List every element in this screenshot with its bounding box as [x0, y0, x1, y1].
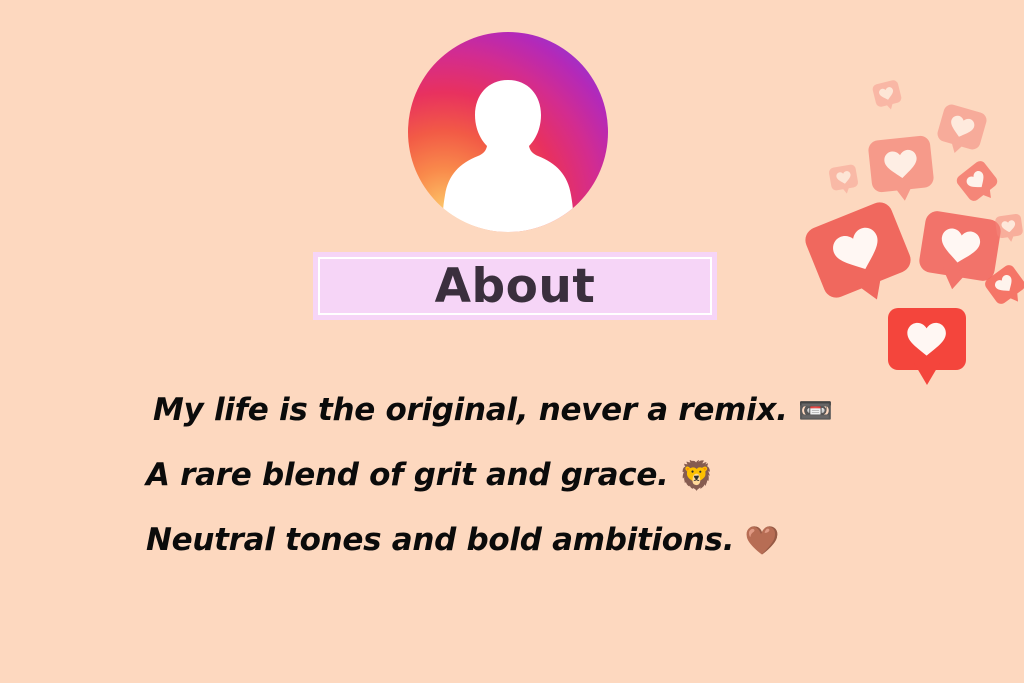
- like-hearts-decoration: [800, 70, 1024, 400]
- heart-bubble-tiny-top: [872, 79, 903, 108]
- person-silhouette-icon: [440, 72, 576, 232]
- bubble-tail: [854, 272, 891, 305]
- bubble-tail: [892, 182, 916, 202]
- bubble-tail: [840, 184, 851, 195]
- bubble-tail: [884, 100, 896, 111]
- about-title-box: About: [313, 252, 717, 320]
- heart-bubble-upper-right: [936, 103, 989, 152]
- bubble-tail: [914, 363, 940, 385]
- bio-line-1: My life is the original, never a remix. …: [146, 378, 906, 443]
- heart-bubble-main: [888, 308, 966, 370]
- heart-bubble-tiny-right: [995, 213, 1024, 238]
- bio-text-block: My life is the original, never a remix. …: [146, 378, 906, 573]
- bubble-tail: [1005, 232, 1016, 242]
- bio-line-2: A rare blend of grit and grace. 🦁: [146, 443, 906, 508]
- heart-bubble-large-left: [801, 198, 914, 301]
- bio-line-2-text: A rare blend of grit and grace.: [146, 457, 679, 493]
- bubble-tail: [939, 268, 968, 292]
- bio-line-3: Neutral tones and bold ambitions. 🤎: [146, 508, 906, 573]
- brown-heart-emoji: 🤎: [745, 524, 780, 557]
- bubble-tail: [947, 138, 966, 155]
- bio-line-3-text: Neutral tones and bold ambitions.: [146, 522, 745, 558]
- heart-bubble-tiny-left: [828, 164, 859, 191]
- heart-bubble-diamond-right: [954, 159, 999, 204]
- videocassette-emoji: 📼: [798, 394, 833, 427]
- heart-bubble-large-right: [918, 209, 1003, 282]
- heart-bubble-upper-center: [867, 135, 934, 193]
- profile-avatar: [408, 32, 608, 232]
- lion-face-emoji: 🦁: [679, 459, 714, 492]
- page-title: About: [435, 263, 596, 310]
- bio-line-1-text: My life is the original, never a remix.: [153, 392, 798, 428]
- about-card-canvas: About My life is the original, never a r…: [0, 0, 1024, 683]
